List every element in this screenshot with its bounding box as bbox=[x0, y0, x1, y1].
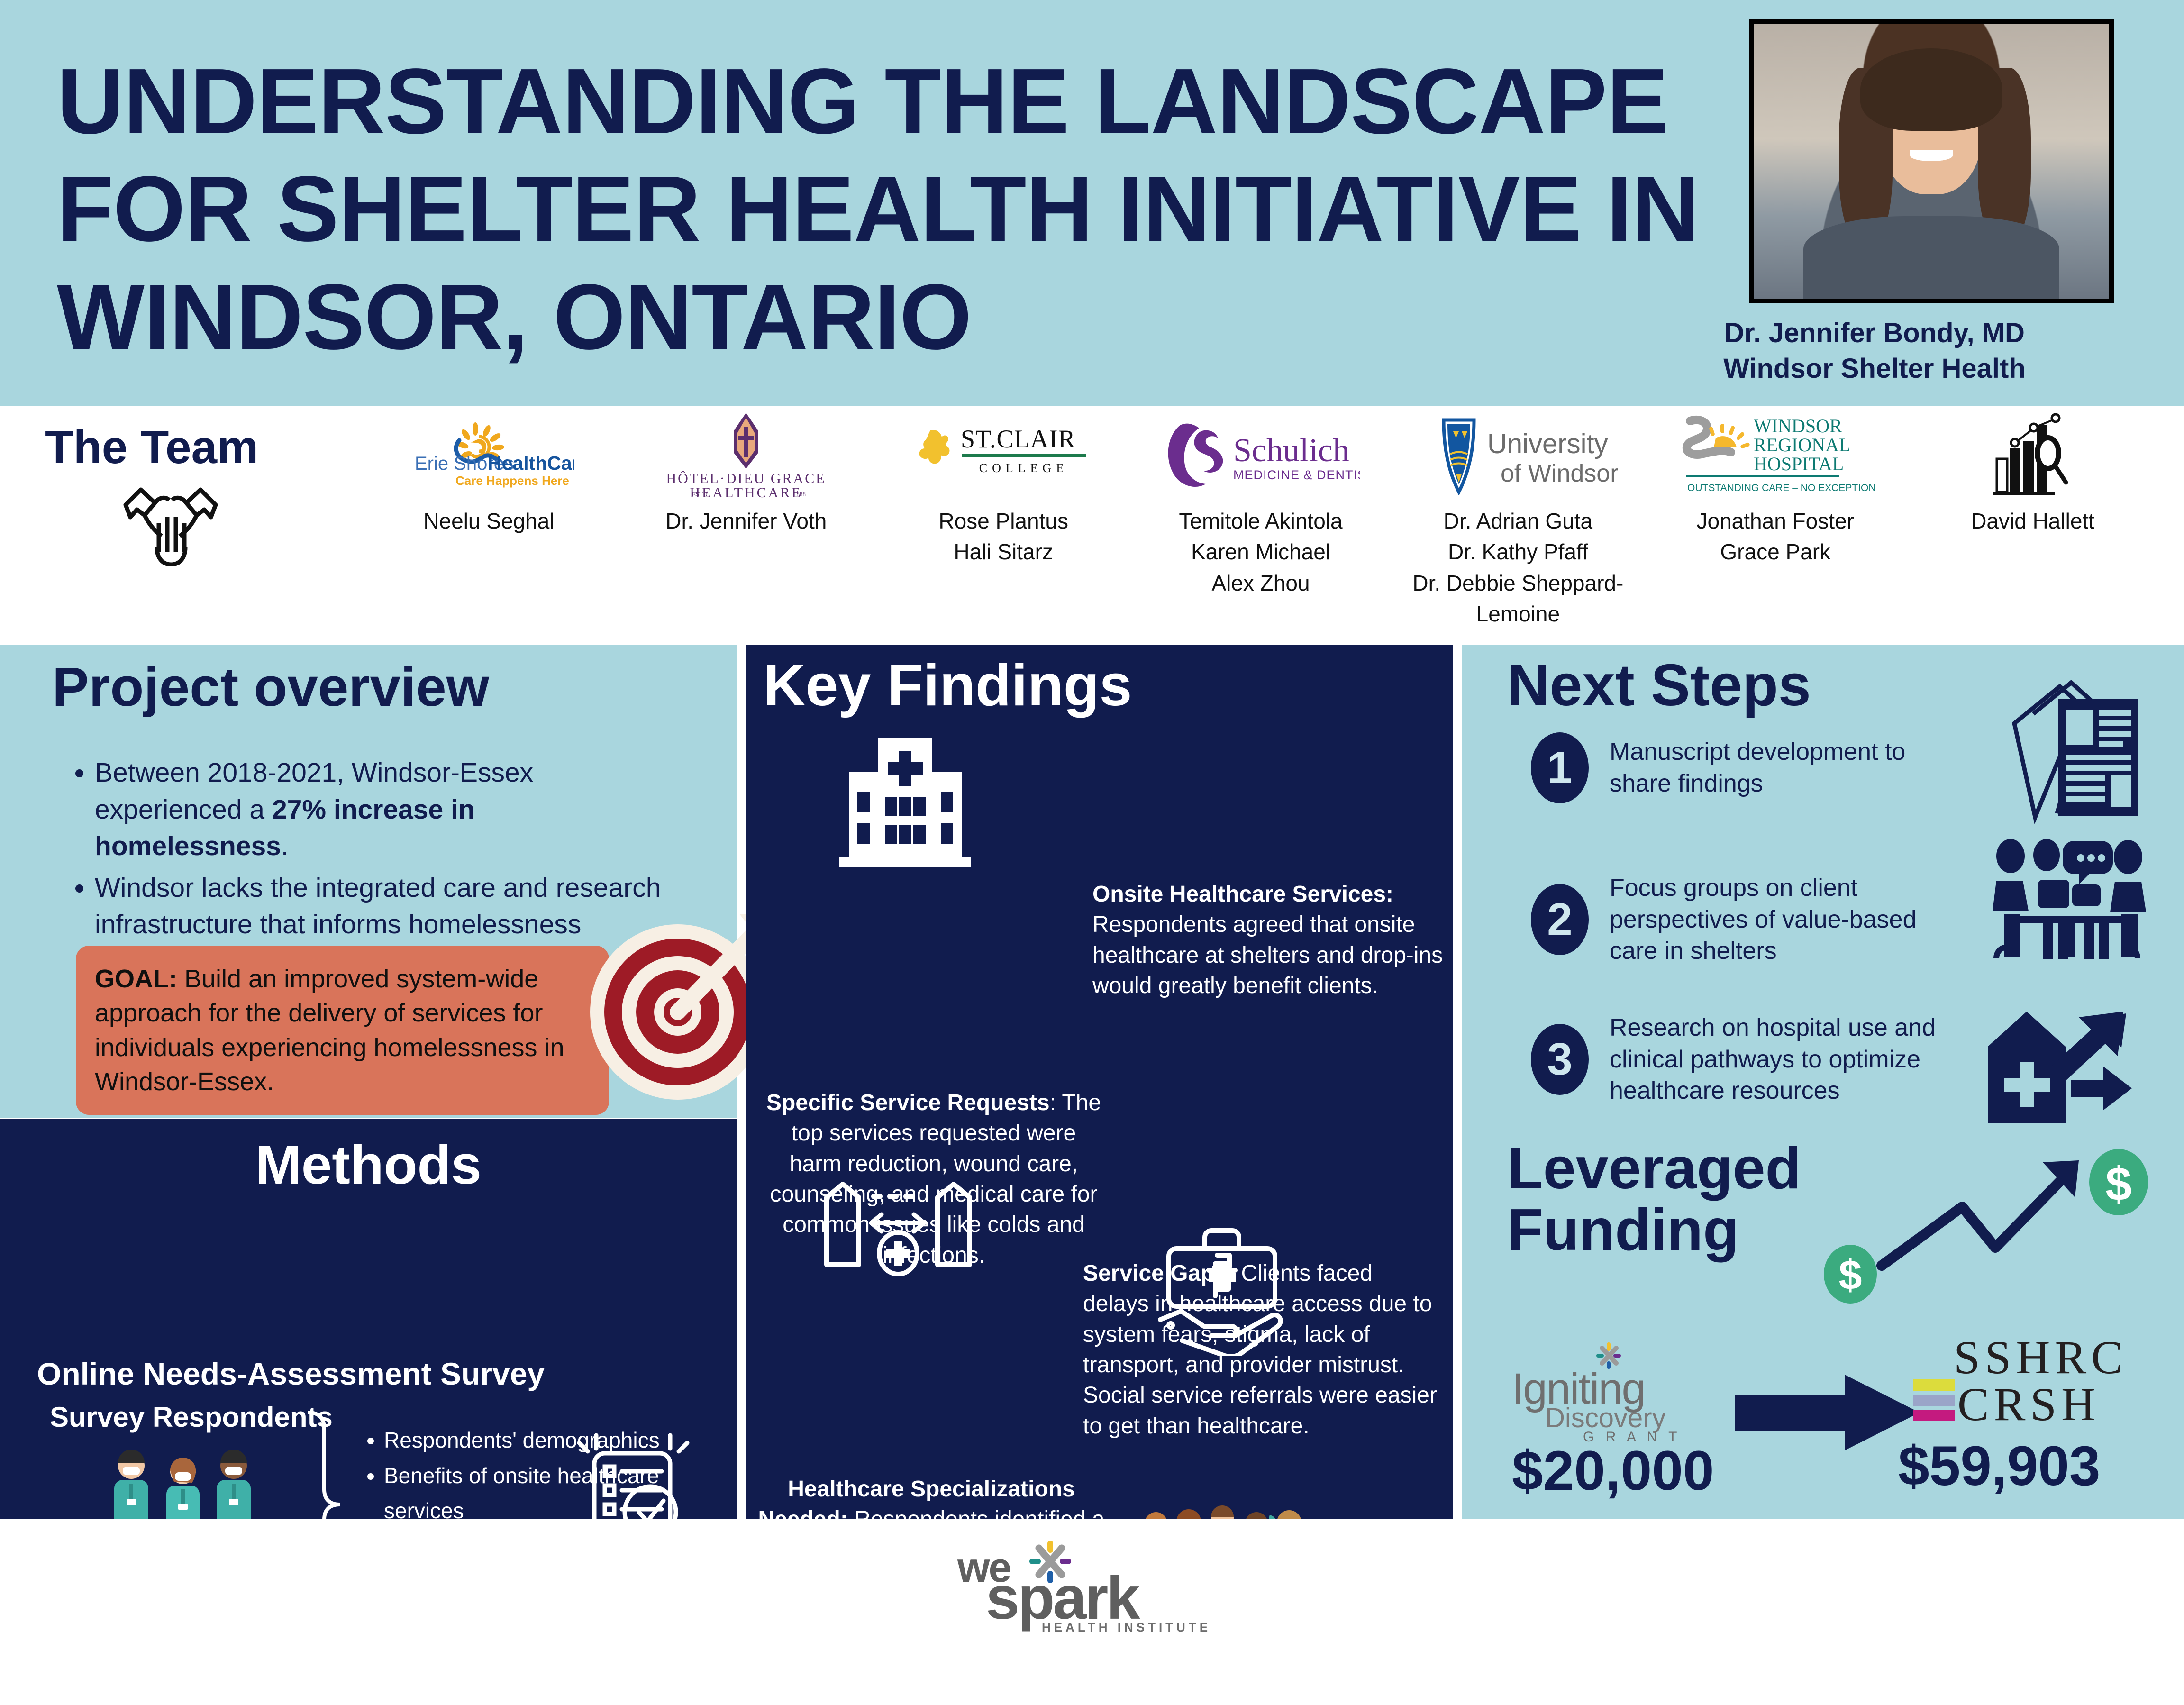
funding-growth-arrow-icon: $ $ bbox=[1806, 1128, 2180, 1327]
page-title: UNDERSTANDING THE LANDSCAPE FOR SHELTER … bbox=[57, 47, 1716, 371]
list-item: Neelu Seghal bbox=[423, 506, 554, 537]
wespark-health-institute-logo: we spark HEALTH INSTITUTE bbox=[957, 1541, 1223, 1631]
list-item: Hali Sitarz bbox=[938, 537, 1068, 567]
funding-transition-arrow-icon bbox=[1735, 1370, 1920, 1455]
sshrc-bar-blue bbox=[1913, 1395, 1955, 1406]
erie-shores-logo: Erie Shores HealthCare Care Happens Here bbox=[403, 411, 574, 501]
next-step-3-number: 3 bbox=[1531, 1024, 1589, 1095]
team-column-erie-shores: Erie Shores HealthCare Care Happens Here… bbox=[360, 411, 618, 537]
sshrc-bar-yellow bbox=[1913, 1379, 1955, 1391]
erie-shores-tagline: Care Happens Here bbox=[455, 474, 569, 488]
analytics-chart-icon bbox=[1981, 413, 2085, 499]
team-column-st-clair: ST.CLAIR COLLEGE Rose Plantus Hali Sitar… bbox=[875, 411, 1132, 568]
svg-text:$: $ bbox=[2105, 1158, 2132, 1211]
list-item: Dr. Jennifer Voth bbox=[665, 506, 827, 537]
svg-text:REGIONAL: REGIONAL bbox=[1754, 434, 1850, 456]
list-item: Rose Plantus bbox=[938, 506, 1068, 537]
key-finding-3: Service Gaps: Clients faced delays in he… bbox=[1083, 1258, 1443, 1441]
key-finding-3-heading: Service Gaps: bbox=[1083, 1261, 1235, 1286]
next-step-2: 2 Focus groups on client perspectives of… bbox=[1531, 872, 1951, 967]
leveraged-funding-title-line-1: Leveraged bbox=[1507, 1138, 1801, 1199]
key-finding-1: Onsite Healthcare Services: Respondents … bbox=[1092, 879, 1443, 1001]
list-item: Karen Michael bbox=[1179, 537, 1342, 567]
team-members-st-clair: Rose Plantus Hali Sitarz bbox=[938, 506, 1068, 568]
next-step-1-text: Manuscript development to share findings bbox=[1610, 736, 1951, 799]
schulich-logo-icon: Schulich MEDICINE & DENTISTRY bbox=[1161, 420, 1360, 492]
key-finding-3-body: Clients faced delays in healthcare acces… bbox=[1083, 1261, 1437, 1439]
university-of-windsor-logo: University of Windsor bbox=[1416, 411, 1620, 501]
svg-text:COLLEGE: COLLEGE bbox=[979, 461, 1068, 475]
team-members-hotel-dieu-grace: Dr. Jennifer Voth bbox=[665, 506, 827, 537]
key-finding-2-heading: Specific Service Requests bbox=[766, 1090, 1050, 1115]
team-column-hotel-dieu-grace: HÔTEL·DIEU GRACE HEALTHCARE ESTD 1888 Dr… bbox=[618, 411, 875, 537]
team-members-erie-shores: Neelu Seghal bbox=[423, 506, 554, 537]
list-item: David Hallett bbox=[1971, 506, 2094, 537]
wrh-logo-icon: WINDSOR REGIONAL HOSPITAL OUTSTANDING CA… bbox=[1676, 413, 1875, 499]
leveraged-funding-title: Leveraged Funding bbox=[1507, 1138, 1801, 1261]
list-item: Delays in care bbox=[384, 1634, 678, 1670]
svg-text:HealthCare: HealthCare bbox=[488, 452, 574, 474]
title-line-1: UNDERSTANDING THE LANDSCAPE bbox=[57, 47, 1716, 155]
list-item: Alex Zhou bbox=[1179, 568, 1342, 599]
hotel-dieu-grace-logo-icon: HÔTEL·DIEU GRACE HEALTHCARE ESTD 1888 bbox=[661, 411, 831, 501]
team-column-uwindsor: University of Windsor Dr. Adrian Guta Dr… bbox=[1389, 411, 1647, 629]
project-overview-title: Project overview bbox=[52, 655, 489, 719]
sshrc-crsh-logo: SSHRC CRSH bbox=[1910, 1332, 2175, 1446]
survey-respondents-label: Survey Respondents bbox=[50, 1401, 333, 1433]
author-org: Windsor Shelter Health bbox=[1635, 351, 2114, 386]
funding-amount-to: $59,903 bbox=[1898, 1434, 2101, 1498]
photo-torso bbox=[1803, 216, 2059, 299]
list-item: Dr. Debbie Sheppard-Lemoine bbox=[1389, 568, 1647, 630]
goal-callout: GOAL: Build an improved system-wide appr… bbox=[76, 946, 609, 1115]
list-item: Dr. Adrian Guta bbox=[1389, 506, 1647, 537]
methods-subtitle: Online Needs-Assessment Survey bbox=[37, 1356, 545, 1392]
list-item: Between 2018-2021, Windsor-Essex experie… bbox=[95, 755, 668, 865]
svg-text:ESTD: ESTD bbox=[692, 491, 708, 498]
next-step-3: 3 Research on hospital use and clinical … bbox=[1531, 1012, 1951, 1107]
wespark-subtitle: HEALTH INSTITUTE bbox=[1042, 1620, 1211, 1635]
svg-text:MEDICINE & DENTISTRY: MEDICINE & DENTISTRY bbox=[1233, 468, 1360, 482]
svg-text:of Windsor: of Windsor bbox=[1501, 460, 1619, 487]
next-step-3-text: Research on hospital use and clinical pa… bbox=[1610, 1012, 1951, 1107]
igniting-discovery-grant-logo: Igniting Discovery G R A N T bbox=[1512, 1341, 1716, 1446]
author-photo bbox=[1749, 19, 2114, 303]
svg-text:1888: 1888 bbox=[793, 491, 806, 498]
analytics-logo bbox=[1981, 411, 2085, 501]
next-step-2-text: Focus groups on client perspectives of v… bbox=[1610, 872, 1951, 967]
focus-group-icon bbox=[1986, 834, 2157, 976]
team-column-analytics: David Hallett bbox=[1904, 411, 2161, 537]
st-clair-logo: ST.CLAIR COLLEGE bbox=[909, 411, 1098, 501]
funding-amount-from: $20,000 bbox=[1512, 1439, 1714, 1503]
svg-text:ST.CLAIR: ST.CLAIR bbox=[961, 425, 1076, 453]
list-item: Dr. Kathy Pfaff bbox=[1389, 537, 1647, 567]
svg-text:HOSPITAL: HOSPITAL bbox=[1754, 453, 1844, 474]
author-credit: Dr. Jennifer Bondy, MD Windsor Shelter H… bbox=[1635, 315, 2114, 387]
svg-text:Schulich: Schulich bbox=[1233, 432, 1349, 469]
list-item: Service strengths and gaps bbox=[384, 1670, 678, 1705]
team-members-analytics: David Hallett bbox=[1971, 506, 2094, 537]
title-line-3: WINDSOR, ONTARIO bbox=[57, 263, 1716, 371]
next-step-1: 1 Manuscript development to share findin… bbox=[1531, 732, 1951, 803]
svg-text:University: University bbox=[1487, 429, 1608, 459]
methods-title: Methods bbox=[0, 1133, 737, 1196]
svg-text:WINDSOR: WINDSOR bbox=[1754, 415, 1842, 437]
hospital-icon bbox=[827, 730, 983, 872]
windsor-regional-hospital-logo: WINDSOR REGIONAL HOSPITAL OUTSTANDING CA… bbox=[1676, 411, 1875, 501]
erie-shores-logo-icon: Erie Shores HealthCare Care Happens Here bbox=[403, 420, 574, 492]
poster-header: UNDERSTANDING THE LANDSCAPE FOR SHELTER … bbox=[0, 0, 2184, 406]
team-members-uwindsor: Dr. Adrian Guta Dr. Kathy Pfaff Dr. Debb… bbox=[1389, 506, 1647, 629]
hotel-dieu-grace-logo: HÔTEL·DIEU GRACE HEALTHCARE ESTD 1888 bbox=[661, 411, 831, 501]
key-finding-1-heading: Onsite Healthcare Services: bbox=[1092, 882, 1393, 907]
teamwork-hands-icon bbox=[111, 472, 230, 566]
clinical-pathway-icon bbox=[1981, 991, 2157, 1133]
sshrc-line-1: SSHRC bbox=[1954, 1330, 2128, 1385]
next-steps-title: Next Steps bbox=[1507, 652, 1811, 719]
leveraged-funding-title-line-2: Funding bbox=[1507, 1199, 1801, 1261]
author-photo-image bbox=[1754, 24, 2109, 299]
next-step-2-number: 2 bbox=[1531, 884, 1589, 955]
next-step-1-number: 1 bbox=[1531, 732, 1589, 803]
wrh-tagline: OUTSTANDING CARE – NO EXCEPTIONS! bbox=[1687, 483, 1875, 493]
st-clair-college-logo-icon: ST.CLAIR COLLEGE bbox=[909, 423, 1098, 489]
documents-icon bbox=[2000, 678, 2157, 825]
team-band: The Team Erie Shores H bbox=[0, 406, 2184, 645]
key-findings-title: Key Findings bbox=[763, 652, 1132, 719]
author-name: Dr. Jennifer Bondy, MD bbox=[1635, 315, 2114, 351]
poster-root: UNDERSTANDING THE LANDSCAPE FOR SHELTER … bbox=[0, 0, 2184, 1638]
team-heading: The Team bbox=[45, 420, 258, 474]
uwindsor-shield-icon: University of Windsor bbox=[1416, 417, 1620, 495]
title-line-2: FOR SHELTER HEALTH INITIATIVE IN bbox=[57, 155, 1716, 263]
svg-text:HÔTEL·DIEU GRACE: HÔTEL·DIEU GRACE bbox=[666, 471, 826, 486]
photo-smile bbox=[1910, 150, 1953, 161]
list-item: Jonathan Foster bbox=[1697, 506, 1854, 537]
sshrc-bar-magenta bbox=[1913, 1410, 1955, 1421]
schulich-logo: Schulich MEDICINE & DENTISTRY bbox=[1161, 411, 1360, 501]
sshrc-color-bars bbox=[1913, 1379, 1955, 1425]
team-members-schulich: Temitole Akintola Karen Michael Alex Zho… bbox=[1179, 506, 1342, 599]
list-item: Temitole Akintola bbox=[1179, 506, 1342, 537]
team-column-wrh: WINDSOR REGIONAL HOSPITAL OUTSTANDING CA… bbox=[1647, 411, 1904, 568]
goal-label: GOAL: bbox=[95, 965, 177, 993]
list-item: Grace Park bbox=[1697, 537, 1854, 567]
svg-text:$: $ bbox=[1839, 1251, 1862, 1298]
key-finding-1-body: Respondents agreed that onsite healthcar… bbox=[1092, 912, 1443, 998]
service-gap-icon bbox=[815, 1166, 981, 1285]
team-columns: Erie Shores HealthCare Care Happens Here… bbox=[360, 411, 2161, 643]
team-members-wrh: Jonathan Foster Grace Park bbox=[1697, 506, 1854, 568]
team-column-schulich: Schulich MEDICINE & DENTISTRY Temitole A… bbox=[1132, 411, 1390, 599]
sshrc-line-2: CRSH bbox=[1957, 1377, 2100, 1431]
